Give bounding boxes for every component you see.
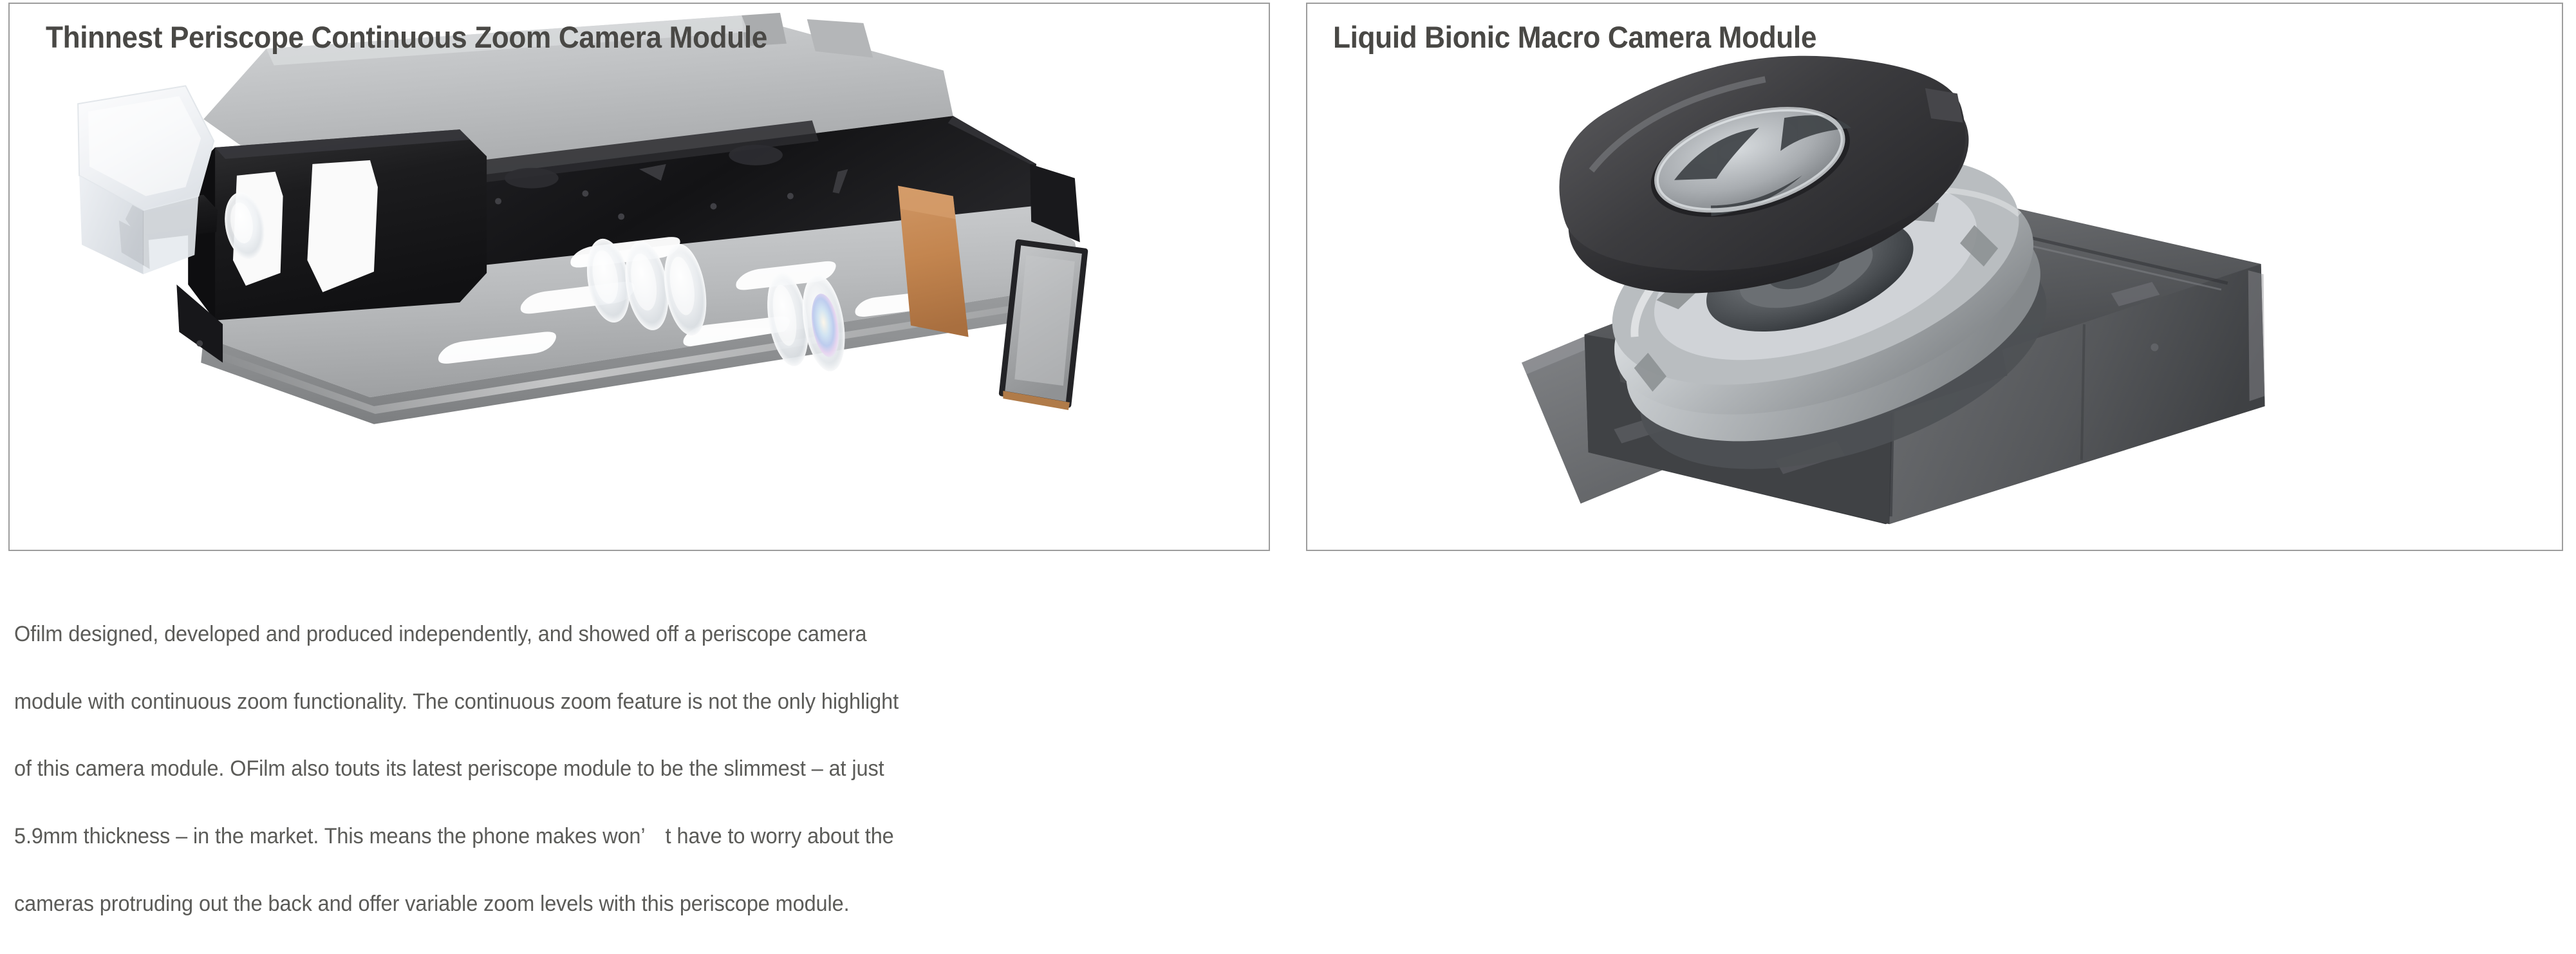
periscope-continuous-zoom-camera-module-render — [10, 4, 1269, 550]
panel-title-periscope: Thinnest Periscope Continuous Zoom Camer… — [46, 19, 767, 55]
column-periscope: Thinnest Periscope Continuous Zoom Camer… — [0, 0, 1287, 825]
panel-macro: Liquid Bionic Macro Camera Module — [1306, 3, 2563, 551]
paragraph-line: Ofilm designed, developed and produced i… — [14, 617, 1250, 651]
liquid-bionic-macro-camera-module-render — [1307, 4, 2562, 550]
paragraph-line: module with continuous zoom functionalit… — [14, 685, 1250, 718]
periscope-prism-block — [78, 86, 214, 274]
panel-periscope: Thinnest Periscope Continuous Zoom Camer… — [8, 3, 1270, 551]
paragraph-periscope: Ofilm designed, developed and produced i… — [14, 584, 1250, 954]
paragraph-line: cameras protruding out the back and offe… — [14, 887, 1250, 921]
periscope-flex-connector-pad — [1002, 242, 1085, 410]
two-column-layout: Thinnest Periscope Continuous Zoom Camer… — [0, 0, 2576, 825]
column-macro: Liquid Bionic Macro Camera Module OFilm … — [1287, 0, 2576, 825]
panel-title-macro: Liquid Bionic Macro Camera Module — [1333, 19, 1816, 55]
paragraph-line: of this camera module. OFilm also touts … — [14, 752, 1250, 785]
slide-root: Thinnest Periscope Continuous Zoom Camer… — [0, 0, 2576, 825]
